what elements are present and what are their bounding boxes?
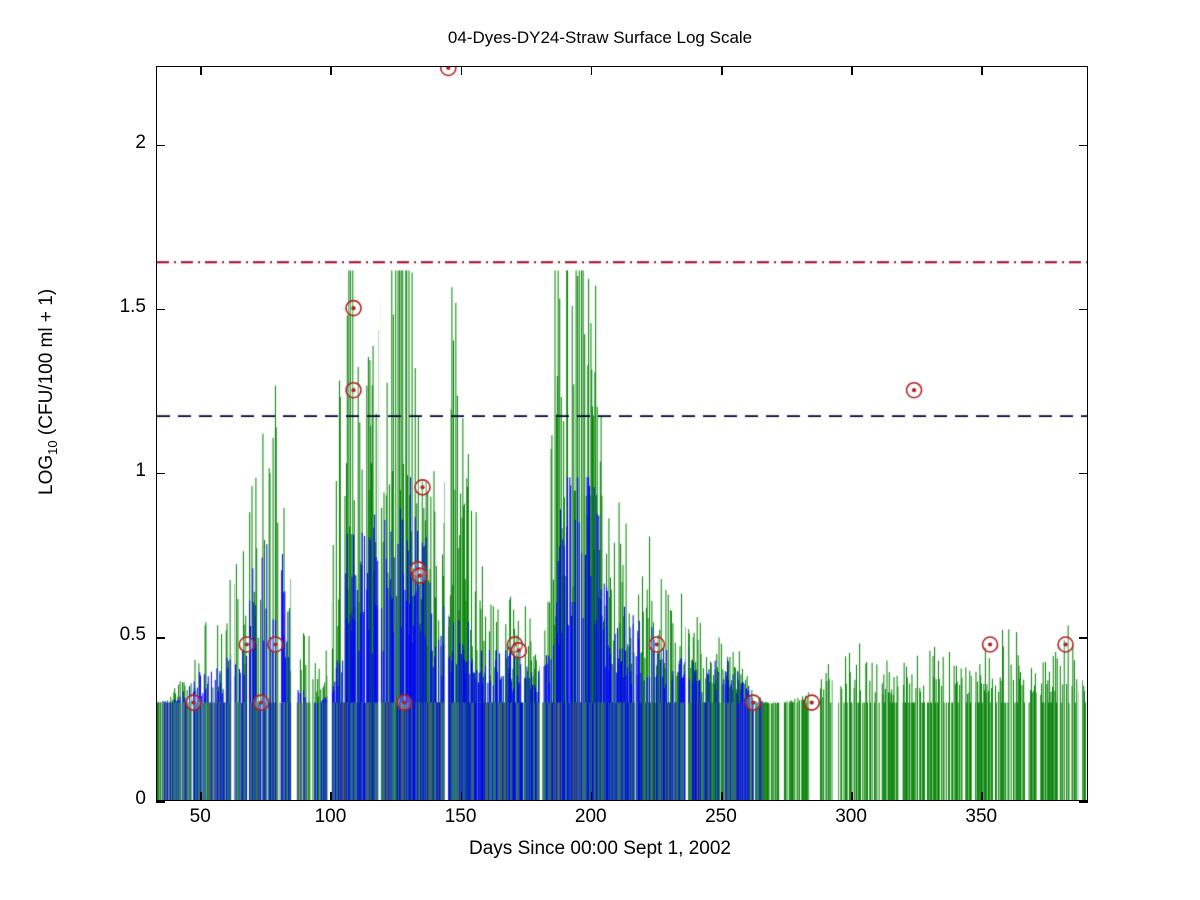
y-tick-right-1.5 xyxy=(1079,309,1088,311)
page-title: 04-Dyes-DY24-Straw Surface Log Scale xyxy=(0,28,1200,48)
y-tick-2 xyxy=(156,145,165,147)
x-tick-top-250 xyxy=(721,66,723,75)
y-axis-label: LOG10 (CFU/100 ml + 1) xyxy=(36,192,60,592)
x-tick-label-150: 150 xyxy=(421,806,501,828)
y-tick-right-0 xyxy=(1079,801,1088,803)
y-tick-1.5 xyxy=(156,309,165,311)
x-tick-100 xyxy=(330,792,332,801)
chart-plot-canvas xyxy=(157,67,1088,801)
y-tick-right-2 xyxy=(1079,145,1088,147)
y-tick-1 xyxy=(156,473,165,475)
x-tick-label-300: 300 xyxy=(811,806,891,828)
x-tick-label-50: 50 xyxy=(160,806,240,828)
x-tick-50 xyxy=(200,792,202,801)
x-tick-top-150 xyxy=(461,66,463,75)
y-tick-right-1 xyxy=(1079,473,1088,475)
y-tick-label-0.5: 0.5 xyxy=(86,624,146,646)
x-tick-top-50 xyxy=(200,66,202,75)
x-tick-top-200 xyxy=(591,66,593,75)
x-tick-300 xyxy=(851,792,853,801)
y-tick-right-0.5 xyxy=(1079,637,1088,639)
y-tick-label-2: 2 xyxy=(86,132,146,154)
figure-canvas: 04-Dyes-DY24-Straw Surface Log Scale Day… xyxy=(0,0,1200,900)
x-axis-label: Days Since 00:00 Sept 1, 2002 xyxy=(0,838,1200,860)
x-tick-label-200: 200 xyxy=(551,806,631,828)
x-tick-350 xyxy=(981,792,983,801)
x-tick-250 xyxy=(721,792,723,801)
y-tick-label-0: 0 xyxy=(86,788,146,810)
x-tick-150 xyxy=(461,792,463,801)
x-tick-top-350 xyxy=(981,66,983,75)
y-tick-0.5 xyxy=(156,637,165,639)
y-axis-label-subscript: 10 xyxy=(45,440,60,454)
x-tick-top-300 xyxy=(851,66,853,75)
y-axis-label-suffix: (CFU/100 ml + 1) xyxy=(36,289,57,441)
y-tick-0 xyxy=(156,801,165,803)
x-tick-label-350: 350 xyxy=(941,806,1021,828)
y-tick-label-1: 1 xyxy=(86,460,146,482)
x-tick-label-250: 250 xyxy=(681,806,761,828)
x-tick-top-100 xyxy=(330,66,332,75)
y-axis-label-prefix: LOG xyxy=(36,455,57,495)
y-tick-label-1.5: 1.5 xyxy=(86,296,146,318)
plot-area xyxy=(156,66,1088,801)
x-tick-label-100: 100 xyxy=(290,806,370,828)
x-tick-200 xyxy=(591,792,593,801)
